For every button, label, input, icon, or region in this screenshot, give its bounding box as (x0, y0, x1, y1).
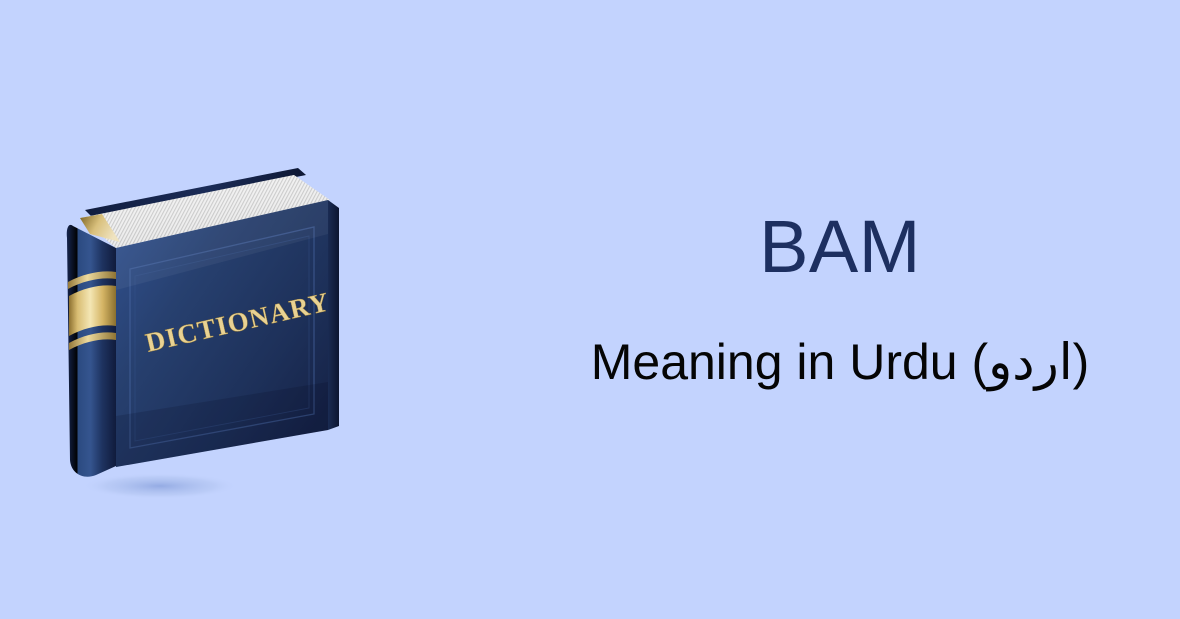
word-text-block: BAM Meaning in Urdu (اردو) (500, 210, 1180, 389)
subtitle-prefix: Meaning in Urdu ( (591, 334, 988, 390)
subtitle-meaning-in-urdu: Meaning in Urdu (اردو) (500, 336, 1180, 389)
page-title-headword: BAM (500, 210, 1180, 284)
book-shadow (82, 473, 238, 499)
subtitle-urdu-script: اردو (988, 333, 1072, 391)
page-canvas: DICTIONARY BAM Meaning in Urdu (اردو) (0, 0, 1180, 619)
dictionary-book-illustration: DICTIONARY (40, 130, 360, 510)
book-spine (67, 225, 116, 477)
subtitle-suffix: ) (1073, 334, 1090, 390)
